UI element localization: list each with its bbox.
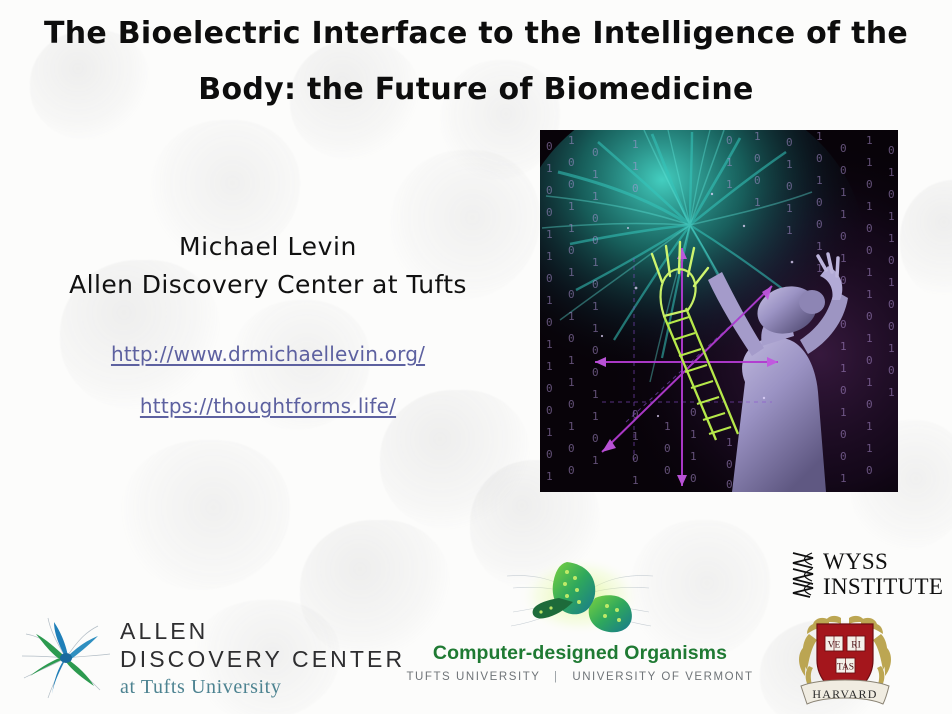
wyss-line-2: INSTITUTE	[823, 574, 943, 599]
svg-text:0: 0	[568, 244, 575, 257]
logo-allen-discovery-center: ALLEN DISCOVERY CENTER at Tufts Universi…	[20, 608, 410, 708]
page-title: The Bioelectric Interface to the Intelli…	[0, 6, 952, 118]
svg-text:0: 0	[888, 320, 895, 333]
svg-text:1: 1	[866, 266, 873, 279]
svg-text:0: 0	[840, 428, 847, 441]
xenobot-icon	[455, 548, 705, 644]
allen-line-2: DISCOVERY CENTER	[120, 645, 405, 673]
svg-text:0: 0	[632, 452, 639, 465]
svg-text:1: 1	[786, 158, 793, 171]
svg-text:1: 1	[840, 252, 847, 265]
svg-text:1: 1	[632, 474, 639, 487]
svg-text:1: 1	[816, 174, 823, 187]
svg-text:0: 0	[546, 382, 553, 395]
svg-text:1: 1	[866, 376, 873, 389]
svg-text:0: 0	[592, 366, 599, 379]
svg-text:0: 0	[592, 432, 599, 445]
svg-text:0: 0	[866, 244, 873, 257]
svg-text:1: 1	[546, 162, 553, 175]
svg-text:1: 1	[726, 156, 733, 169]
svg-text:0: 0	[754, 174, 761, 187]
svg-text:1: 1	[568, 200, 575, 213]
svg-text:1: 1	[592, 322, 599, 335]
allen-line-1: ALLEN	[120, 617, 405, 645]
svg-text:1: 1	[568, 266, 575, 279]
svg-text:0: 0	[754, 152, 761, 165]
harvard-motto-tas: TAS	[837, 663, 854, 673]
svg-text:1: 1	[592, 256, 599, 269]
logo-harvard: VE RI TAS HARVARD	[795, 612, 895, 710]
svg-text:0: 0	[866, 222, 873, 235]
svg-text:0: 0	[546, 448, 553, 461]
harvard-motto-ri: RI	[851, 641, 861, 651]
svg-text:1: 1	[840, 186, 847, 199]
svg-text:0: 0	[592, 212, 599, 225]
logo-computer-designed-organisms: Computer-designed Organisms TUFTS UNIVER…	[405, 548, 755, 683]
svg-text:1: 1	[546, 470, 553, 483]
svg-text:1: 1	[546, 250, 553, 263]
svg-text:0: 0	[568, 464, 575, 477]
svg-text:0: 0	[816, 218, 823, 231]
svg-text:1: 1	[568, 134, 575, 147]
svg-text:0: 0	[592, 344, 599, 357]
svg-text:1: 1	[592, 454, 599, 467]
svg-text:1: 1	[840, 406, 847, 419]
svg-text:1: 1	[888, 232, 895, 245]
svg-text:0: 0	[546, 272, 553, 285]
svg-text:1: 1	[840, 472, 847, 485]
svg-text:1: 1	[568, 222, 575, 235]
svg-text:0: 0	[568, 178, 575, 191]
svg-text:0: 0	[726, 134, 733, 147]
svg-text:0: 0	[690, 472, 697, 485]
svg-text:1: 1	[592, 190, 599, 203]
svg-text:1: 1	[786, 224, 793, 237]
author-block: Michael Levin Allen Discovery Center at …	[18, 228, 518, 432]
presentation-slide: The Bioelectric Interface to the Intelli…	[0, 0, 952, 714]
svg-text:0: 0	[546, 316, 553, 329]
harvard-motto-ve: VE	[828, 641, 841, 651]
harvard-banner-text: HARVARD	[812, 687, 877, 701]
svg-text:1: 1	[546, 426, 553, 439]
svg-text:0: 0	[726, 458, 733, 471]
svg-text:1: 1	[754, 196, 761, 209]
svg-text:1: 1	[816, 130, 823, 143]
svg-text:1: 1	[866, 288, 873, 301]
svg-text:0: 0	[786, 136, 793, 149]
svg-text:1: 1	[632, 160, 639, 173]
svg-text:1: 1	[866, 200, 873, 213]
svg-text:0: 0	[866, 398, 873, 411]
svg-text:0: 0	[592, 234, 599, 247]
svg-text:0: 0	[546, 184, 553, 197]
svg-text:1: 1	[888, 386, 895, 399]
svg-text:1: 1	[546, 294, 553, 307]
svg-text:0: 0	[866, 178, 873, 191]
svg-text:0: 0	[866, 310, 873, 323]
svg-text:0: 0	[840, 384, 847, 397]
svg-text:0: 0	[816, 152, 823, 165]
svg-text:1: 1	[866, 442, 873, 455]
svg-text:0: 0	[726, 478, 733, 491]
svg-text:1: 1	[546, 228, 553, 241]
svg-text:1: 1	[888, 210, 895, 223]
title-line-2: Body: the Future of Biomedicine	[0, 62, 952, 118]
svg-text:1: 1	[546, 338, 553, 351]
svg-text:1: 1	[632, 430, 639, 443]
svg-text:0: 0	[546, 206, 553, 219]
wyss-helix-icon	[790, 549, 817, 599]
svg-text:0: 0	[840, 164, 847, 177]
svg-text:0: 0	[592, 278, 599, 291]
artwork-svg: 010 011 010 110 010 1 100 110 101 011 01…	[540, 130, 898, 492]
cdo-institution-1: TUFTS UNIVERSITY	[406, 671, 540, 683]
svg-text:0: 0	[568, 156, 575, 169]
link-thoughtforms[interactable]: https://thoughtforms.life/	[18, 380, 518, 432]
title-line-1: The Bioelectric Interface to the Intelli…	[0, 6, 952, 62]
svg-text:0: 0	[840, 450, 847, 463]
svg-text:0: 0	[888, 364, 895, 377]
svg-text:1: 1	[592, 300, 599, 313]
svg-text:1: 1	[754, 130, 761, 143]
svg-text:1: 1	[664, 420, 671, 433]
cdo-institution-2: UNIVERSITY OF VERMONT	[572, 671, 753, 683]
svg-text:0: 0	[546, 404, 553, 417]
svg-text:1: 1	[726, 436, 733, 449]
svg-text:0: 0	[866, 354, 873, 367]
svg-text:1: 1	[568, 354, 575, 367]
author-affiliation: Allen Discovery Center at Tufts	[18, 266, 518, 304]
svg-text:0: 0	[690, 406, 697, 419]
svg-text:0: 0	[664, 442, 671, 455]
svg-text:1: 1	[568, 310, 575, 323]
svg-text:1: 1	[568, 376, 575, 389]
svg-text:0: 0	[888, 254, 895, 267]
svg-text:0: 0	[592, 146, 599, 159]
svg-text:0: 0	[888, 188, 895, 201]
svg-text:0: 0	[664, 464, 671, 477]
svg-text:0: 0	[816, 196, 823, 209]
svg-text:0: 0	[568, 288, 575, 301]
allen-line-3: at Tufts University	[120, 674, 405, 700]
svg-text:0: 0	[888, 298, 895, 311]
link-drmichaellevin[interactable]: http://www.drmichaellevin.org/	[18, 328, 518, 380]
svg-text:0: 0	[840, 230, 847, 243]
svg-text:0: 0	[568, 398, 575, 411]
svg-text:1: 1	[866, 420, 873, 433]
svg-text:1: 1	[592, 410, 599, 423]
svg-text:0: 0	[866, 464, 873, 477]
allen-bird-icon	[20, 612, 112, 704]
author-name: Michael Levin	[18, 228, 518, 266]
svg-text:1: 1	[888, 342, 895, 355]
link-list: http://www.drmichaellevin.org/ https://t…	[18, 328, 518, 432]
svg-text:1: 1	[568, 420, 575, 433]
svg-text:1: 1	[816, 240, 823, 253]
svg-text:1: 1	[866, 134, 873, 147]
svg-text:0: 0	[840, 318, 847, 331]
svg-text:1: 1	[888, 166, 895, 179]
svg-text:1: 1	[840, 362, 847, 375]
svg-text:1: 1	[888, 276, 895, 289]
svg-text:1: 1	[786, 202, 793, 215]
svg-text:1: 1	[632, 138, 639, 151]
logo-wyss-institute: WYSS INSTITUTE	[790, 545, 940, 603]
svg-text:1: 1	[546, 360, 553, 373]
svg-text:1: 1	[840, 208, 847, 221]
cdo-title: Computer-designed Organisms	[405, 642, 755, 665]
svg-text:1: 1	[592, 388, 599, 401]
svg-text:0: 0	[568, 332, 575, 345]
cdo-separator: |	[554, 671, 559, 683]
wyss-line-1: WYSS	[823, 549, 943, 574]
harvard-crest-icon: VE RI TAS HARVARD	[795, 612, 895, 710]
svg-text:1: 1	[866, 156, 873, 169]
svg-text:1: 1	[726, 178, 733, 191]
svg-text:0: 0	[888, 144, 895, 157]
cdo-institutions: TUFTS UNIVERSITY | UNIVERSITY OF VERMONT	[405, 671, 755, 683]
svg-text:1: 1	[690, 428, 697, 441]
svg-text:1: 1	[866, 332, 873, 345]
artwork-image: 010 011 010 110 010 1 100 110 101 011 01…	[540, 130, 898, 492]
svg-text:0: 0	[632, 182, 639, 195]
svg-text:0: 0	[840, 142, 847, 155]
svg-text:1: 1	[690, 450, 697, 463]
svg-text:1: 1	[592, 168, 599, 181]
svg-text:0: 0	[568, 442, 575, 455]
svg-text:1: 1	[840, 340, 847, 353]
svg-text:0: 0	[546, 140, 553, 153]
svg-text:0: 0	[786, 180, 793, 193]
